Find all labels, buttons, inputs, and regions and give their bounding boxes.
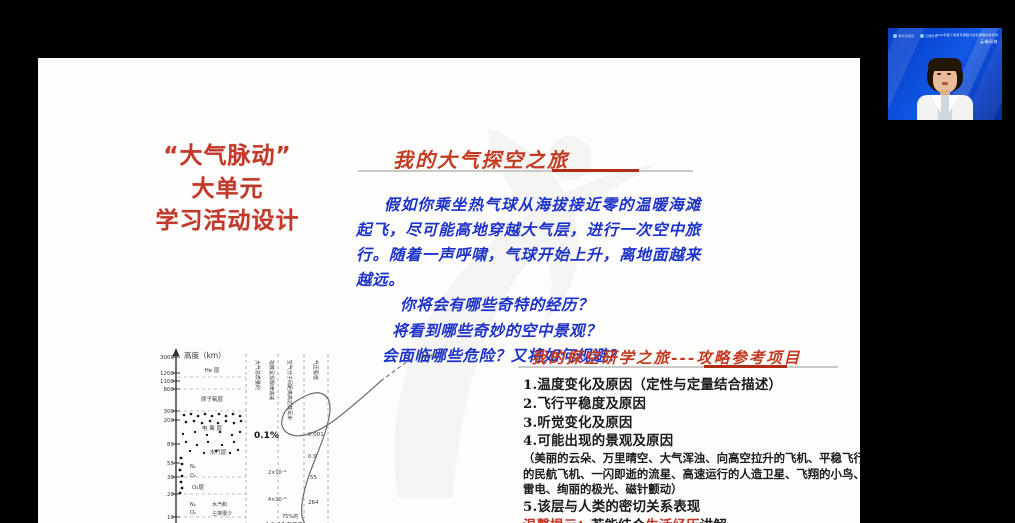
left-title-line-1: “大气脉动”	[120, 140, 335, 173]
svg-text:55: 55	[310, 475, 317, 481]
svg-text:75%的: 75%的	[282, 513, 298, 520]
col-header-mass: 大气总质量的	[254, 360, 261, 390]
broadcast-title-line-1: 2024年度义务教育课程方案和课程标准培训	[936, 33, 998, 37]
project-item-list: 1.温度变化及原因（定性与定量结合描述） 2.飞行平稳度及原因 3.听觉变化及原…	[523, 376, 860, 523]
svg-text:4×10⁻⁶: 4×10⁻⁶	[268, 497, 286, 503]
list-item: 5.该层与人类的密切关系表现	[523, 498, 860, 517]
presenter-figure	[915, 58, 975, 120]
temp-max-label: 1200℃	[418, 353, 438, 360]
tip-highlight: 生活经历	[645, 518, 699, 523]
svg-text:2×10⁻⁹: 2×10⁻⁹	[268, 470, 286, 476]
svg-text:20: 20	[167, 492, 174, 498]
heading-divider-1	[358, 169, 693, 172]
svg-text:0.1%: 0.1%	[254, 431, 279, 441]
logo-publisher: 教育出版社	[893, 34, 915, 38]
svg-text:3000: 3000	[160, 355, 174, 361]
tip-line: 温馨提示：若能结合生活经历讲解	[523, 517, 860, 523]
svg-text:264: 264	[308, 500, 319, 506]
list-item: 3.听觉变化及原因	[523, 414, 860, 433]
col-header-decay: 指数呈现规律递减	[268, 360, 275, 400]
screen: “大气脉动” 大单元 学习活动设计 我的大气探空之旅 假如你乘坐热气球从海拔接近…	[0, 0, 1015, 523]
svg-text:200: 200	[164, 418, 175, 424]
story-paragraph: 假如你乘坐热气球从海拔接近零的温暖海滩起飞，尽可能高地穿越大气层，进行一次空中旅…	[356, 192, 701, 368]
atmosphere-chart: 高度（km） 3000 1200 1100 800 300 200 85 55 …	[150, 346, 480, 523]
list-item: 1.温度变化及原因（定性与定量结合描述）	[523, 376, 860, 395]
svg-text:1100: 1100	[160, 379, 174, 385]
logo-mark-icon	[920, 34, 924, 38]
list-item: 4.可能出现的景观及原因	[523, 432, 860, 451]
svg-text:O₃层: O₃层	[192, 484, 205, 491]
tip-text-a: 若能结合	[591, 518, 645, 523]
story-question-2: 将看到哪些奇妙的空中景观？	[356, 318, 701, 343]
collar-left	[931, 95, 941, 113]
col-header-spacing: 空气分子间距离高达数百米	[286, 360, 293, 420]
svg-text:55: 55	[167, 461, 174, 467]
mouth	[942, 82, 948, 85]
svg-text:85: 85	[167, 442, 174, 448]
logo-publisher-label: 教育出版社	[899, 34, 915, 38]
eye-right	[947, 73, 951, 75]
divider-accent-segment	[704, 365, 787, 368]
page-title: “大气脉动” 大单元 学习活动设计	[120, 140, 335, 238]
svg-text:尘埃很少: 尘埃很少	[212, 510, 232, 517]
svg-text:高度（km）: 高度（km）	[184, 350, 226, 360]
fringe	[928, 58, 962, 71]
divider-right-segment	[639, 170, 693, 172]
svg-text:O₂: O₂	[190, 510, 196, 516]
svg-text:水汽层: 水汽层	[210, 448, 227, 456]
tip-text-b: 讲解	[700, 518, 727, 523]
left-title-line-3: 学习活动设计	[120, 205, 335, 238]
svg-text:800: 800	[164, 387, 175, 393]
svg-text:30: 30	[167, 475, 174, 481]
broadcast-title-line-2: 云端研修	[936, 39, 998, 45]
logo-platform: 云端研修	[920, 34, 938, 38]
broadcast-title: 2024年度义务教育课程方案和课程标准培训 云端研修	[936, 33, 998, 45]
presentation-slide: “大气脉动” 大单元 学习活动设计 我的大气探空之旅 假如你乘坐热气球从海拔接近…	[38, 58, 860, 523]
svg-text:水汽和: 水汽和	[212, 501, 227, 508]
divider-accent-segment	[552, 169, 639, 172]
heading-divider-2	[518, 365, 838, 368]
col-header-pressure: 气压极低	[312, 360, 319, 380]
broadcast-logos: 教育出版社 云端研修	[893, 34, 938, 38]
svg-text:He 层: He 层	[205, 367, 220, 374]
divider-left-segment	[358, 170, 552, 172]
svg-text:10: 10	[167, 515, 174, 521]
list-item-detail: （美丽的云朵、万里晴空、大气浑浊、向高空拉升的飞机、平稳飞行的民航飞机、一闪即逝…	[523, 451, 860, 498]
svg-text:O₂: O₂	[190, 473, 196, 479]
tip-label: 温馨提示：	[523, 518, 591, 523]
divider-right-segment	[787, 366, 838, 368]
svg-text:1200: 1200	[160, 371, 174, 377]
divider-left-segment	[518, 366, 704, 368]
video-frame: 教育出版社 云端研修 2024年度义务教育课程方案和课程标准培训 云端研修	[888, 28, 1002, 120]
svg-text:300: 300	[164, 409, 175, 415]
story-question-1: 你将会有哪些奇特的经历？	[356, 292, 701, 317]
eye-left	[937, 73, 941, 75]
svg-text:N₂: N₂	[190, 502, 196, 508]
svg-text:电 离 层: 电 离 层	[202, 424, 222, 432]
left-title-line-2: 大单元	[120, 173, 335, 206]
svg-text:原子氧层: 原子氧层	[201, 395, 224, 403]
story-text: 假如你乘坐热气球从海拔接近零的温暖海滩起飞，尽可能高地穿越大气层，进行一次空中旅…	[356, 192, 701, 292]
svg-text:N₂: N₂	[190, 464, 196, 470]
presenter-video-panel[interactable]: 教育出版社 云端研修 2024年度义务教育课程方案和课程标准培训 云端研修	[880, 16, 1010, 132]
collar-right	[949, 95, 959, 113]
logo-mark-icon	[893, 34, 897, 38]
list-item: 2.飞行平稳度及原因	[523, 395, 860, 414]
